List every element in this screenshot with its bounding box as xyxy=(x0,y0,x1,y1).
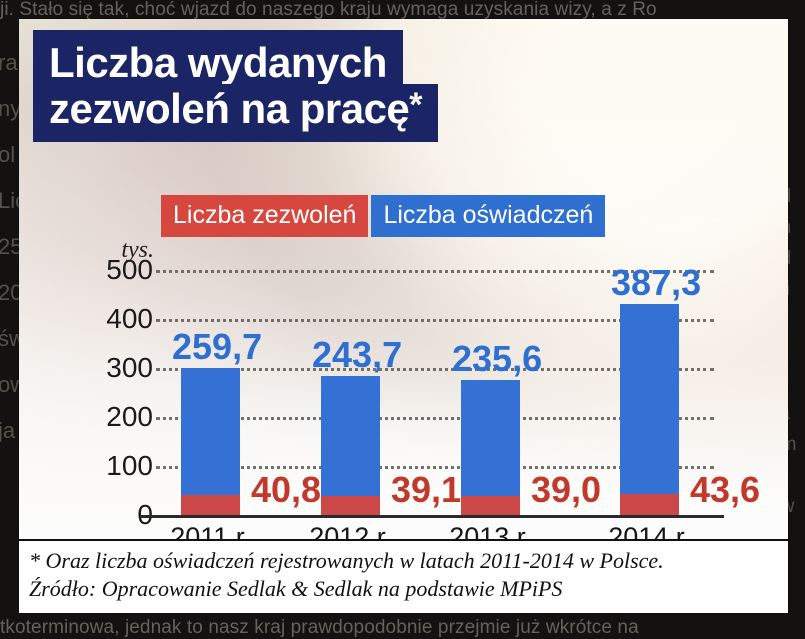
y-axis-tick-label: 100 xyxy=(81,450,153,482)
bar-segment-permits[interactable] xyxy=(620,494,679,515)
chart-plot-area: tys.0100200300400500259,740,82011 r.243,… xyxy=(19,19,788,613)
bar-stack[interactable] xyxy=(461,380,520,515)
bar-value-label-permits: 39,0 xyxy=(531,469,601,511)
y-axis-tick-label: 400 xyxy=(81,303,153,335)
x-axis-baseline xyxy=(140,515,724,518)
infographic-card: Liczba wydanych zezwoleń na pracę* Liczb… xyxy=(19,19,788,613)
bar-value-label-declarations: 387,3 xyxy=(611,262,701,304)
bar-value-label-permits: 39,1 xyxy=(391,469,461,511)
y-axis-tick-label: 300 xyxy=(81,352,153,384)
bar-stack[interactable] xyxy=(321,376,380,515)
bar-segment-declarations[interactable] xyxy=(620,304,679,494)
bar-segment-permits[interactable] xyxy=(181,495,240,515)
background-text-top: ji. Stało się tak, choć wjazd do naszego… xyxy=(0,0,805,21)
bar-value-label-declarations: 259,7 xyxy=(172,326,262,368)
bar-segment-declarations[interactable] xyxy=(321,376,380,495)
bar-segment-permits[interactable] xyxy=(461,496,520,515)
y-axis-tick-label: 200 xyxy=(81,401,153,433)
bar-segment-declarations[interactable] xyxy=(181,368,240,495)
bar-value-label-declarations: 243,7 xyxy=(312,334,402,376)
bar-value-label-permits: 43,6 xyxy=(690,469,760,511)
y-axis-tick-label: 500 xyxy=(81,254,153,286)
bar-segment-declarations[interactable] xyxy=(461,380,520,495)
bar-value-label-permits: 40,8 xyxy=(251,469,321,511)
footnote-line-2: Źródło: Opracowanie Sedlak & Sedlak na p… xyxy=(29,575,778,603)
chart-footnote: * Oraz liczba oświadczeń rejestrowanych … xyxy=(19,539,788,613)
bar-value-label-declarations: 235,6 xyxy=(452,338,542,380)
background-text-bottom: tkoterminowa, jednak to nasz kraj prawdo… xyxy=(0,617,805,639)
bar-stack[interactable] xyxy=(181,368,240,515)
footnote-line-1: * Oraz liczba oświadczeń rejestrowanych … xyxy=(29,547,778,575)
bar-stack[interactable] xyxy=(620,304,679,515)
bar-segment-permits[interactable] xyxy=(321,496,380,515)
